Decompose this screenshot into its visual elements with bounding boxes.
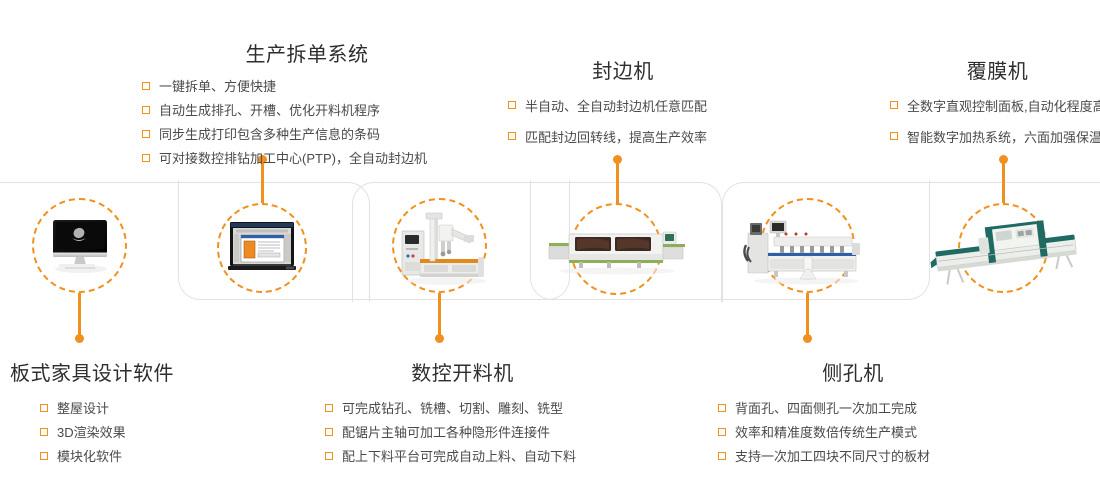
checkbox-bullet-icon	[325, 428, 333, 436]
feature-list-cnc-cutting-machine: 可完成钻孔、铣槽、切割、雕刻、铣型 配锯片主轴可加工各种隐形件连接件 配上下料平…	[325, 398, 600, 467]
checkbox-bullet-icon	[142, 106, 150, 114]
text-block-design-software: 板式家具设计软件 整屋设计 3D渲染效果 模块化软件	[10, 357, 210, 470]
text-block-edge-banding-machine: 封边机 半自动、全自动封边机任意匹配 匹配封边回转线，提高生产效率	[508, 55, 738, 157]
node-circle-cnc-cutting-machine[interactable]	[392, 198, 487, 293]
connector-line-3	[438, 288, 441, 338]
heading-edge-banding-machine: 封边机	[508, 55, 738, 84]
connector-line-5	[806, 288, 809, 338]
text-block-cnc-cutting-machine: 数控开料机 可完成钻孔、铣槽、切割、雕刻、铣型 配锯片主轴可加工各种隐形件连接件…	[325, 357, 600, 470]
list-item: 背面孔、四面侧孔一次加工完成	[718, 398, 988, 419]
node-circle-order-splitting-system[interactable]	[217, 203, 307, 293]
list-item-label: 可对接数控排钻加工中心(PTP)，全自动封边机	[159, 151, 427, 166]
node-circle-design-software[interactable]	[32, 198, 127, 293]
node-circle-side-hole-machine[interactable]	[760, 198, 855, 293]
checkbox-bullet-icon	[40, 428, 48, 436]
text-block-laminating-machine: 覆膜机 全数字直观控制面板,自动化程度高 智能数字加热系统，六面加强保温	[890, 55, 1100, 157]
checkbox-bullet-icon	[325, 452, 333, 460]
checkbox-bullet-icon	[142, 82, 150, 90]
checkbox-bullet-icon	[890, 101, 898, 109]
list-item: 全数字直观控制面板,自动化程度高	[890, 95, 1100, 118]
list-item-label: 智能数字加热系统，六面加强保温	[907, 130, 1100, 145]
checkbox-bullet-icon	[40, 452, 48, 460]
checkbox-bullet-icon	[718, 404, 726, 412]
node-circle-edge-banding-machine[interactable]	[570, 203, 662, 295]
list-item-label: 可完成钻孔、铣槽、切割、雕刻、铣型	[342, 401, 563, 416]
heading-side-hole-machine: 侧孔机	[718, 357, 988, 386]
connector-dot-1	[75, 334, 84, 343]
list-item: 半自动、全自动封边机任意匹配	[508, 95, 738, 118]
list-item: 一键拆单、方便快捷	[142, 76, 472, 97]
heading-design-software: 板式家具设计软件	[10, 357, 210, 386]
list-item-label: 配锯片主轴可加工各种隐形件连接件	[342, 425, 550, 440]
feature-list-edge-banding-machine: 半自动、全自动封边机任意匹配 匹配封边回转线，提高生产效率	[508, 95, 738, 149]
list-item: 智能数字加热系统，六面加强保温	[890, 126, 1100, 149]
heading-laminating-machine: 覆膜机	[890, 55, 1100, 84]
checkbox-bullet-icon	[508, 101, 516, 109]
connector-line-4	[616, 158, 619, 208]
list-item: 配上下料平台可完成自动上料、自动下料	[325, 446, 600, 467]
workflow-diagram: 生产拆单系统 一键拆单、方便快捷 自动生成排孔、开槽、优化开料机程序 同步生成打…	[0, 0, 1100, 495]
list-item-label: 3D渲染效果	[57, 425, 126, 440]
connector-line-6	[1002, 158, 1005, 208]
list-item: 匹配封边回转线，提高生产效率	[508, 126, 738, 149]
list-item: 配锯片主轴可加工各种隐形件连接件	[325, 422, 600, 443]
connector-dot-5	[803, 334, 812, 343]
connector-dot-3	[435, 334, 444, 343]
list-item: 整屋设计	[40, 398, 210, 419]
list-item-label: 全数字直观控制面板,自动化程度高	[907, 99, 1100, 114]
list-item-label: 支持一次加工四块不同尺寸的板材	[735, 449, 930, 464]
list-item: 可对接数控排钻加工中心(PTP)，全自动封边机	[142, 148, 472, 169]
list-item: 可完成钻孔、铣槽、切割、雕刻、铣型	[325, 398, 600, 419]
connector-line-1	[78, 288, 81, 338]
feature-list-laminating-machine: 全数字直观控制面板,自动化程度高 智能数字加热系统，六面加强保温	[890, 95, 1100, 149]
list-item: 自动生成排孔、开槽、优化开料机程序	[142, 100, 472, 121]
feature-list-design-software: 整屋设计 3D渲染效果 模块化软件	[10, 398, 210, 467]
list-item-label: 同步生成打印包含多种生产信息的条码	[159, 127, 380, 142]
list-item: 模块化软件	[40, 446, 210, 467]
heading-order-splitting-system: 生产拆单系统	[142, 38, 472, 67]
checkbox-bullet-icon	[718, 428, 726, 436]
list-item-label: 半自动、全自动封边机任意匹配	[525, 99, 707, 114]
list-item-label: 匹配封边回转线，提高生产效率	[525, 130, 707, 145]
checkbox-bullet-icon	[142, 154, 150, 162]
feature-list-order-splitting-system: 一键拆单、方便快捷 自动生成排孔、开槽、优化开料机程序 同步生成打印包含多种生产…	[142, 76, 472, 169]
list-item-label: 整屋设计	[57, 401, 109, 416]
checkbox-bullet-icon	[718, 452, 726, 460]
checkbox-bullet-icon	[890, 132, 898, 140]
heading-cnc-cutting-machine: 数控开料机	[325, 357, 600, 386]
node-circle-laminating-machine[interactable]	[958, 203, 1048, 293]
checkbox-bullet-icon	[142, 130, 150, 138]
list-item: 效率和精准度数倍传统生产模式	[718, 422, 988, 443]
list-item-label: 模块化软件	[57, 449, 122, 464]
feature-list-side-hole-machine: 背面孔、四面侧孔一次加工完成 效率和精准度数倍传统生产模式 支持一次加工四块不同…	[718, 398, 988, 467]
list-item: 3D渲染效果	[40, 422, 210, 443]
list-item-label: 配上下料平台可完成自动上料、自动下料	[342, 449, 576, 464]
list-item-label: 自动生成排孔、开槽、优化开料机程序	[159, 103, 380, 118]
checkbox-bullet-icon	[325, 404, 333, 412]
list-item: 支持一次加工四块不同尺寸的板材	[718, 446, 988, 467]
checkbox-bullet-icon	[40, 404, 48, 412]
list-item-label: 一键拆单、方便快捷	[159, 79, 276, 94]
list-item: 同步生成打印包含多种生产信息的条码	[142, 124, 472, 145]
checkbox-bullet-icon	[508, 132, 516, 140]
text-block-order-splitting-system: 生产拆单系统 一键拆单、方便快捷 自动生成排孔、开槽、优化开料机程序 同步生成打…	[142, 38, 472, 172]
text-block-side-hole-machine: 侧孔机 背面孔、四面侧孔一次加工完成 效率和精准度数倍传统生产模式 支持一次加工…	[718, 357, 988, 470]
list-item-label: 效率和精准度数倍传统生产模式	[735, 425, 917, 440]
list-item-label: 背面孔、四面侧孔一次加工完成	[735, 401, 917, 416]
